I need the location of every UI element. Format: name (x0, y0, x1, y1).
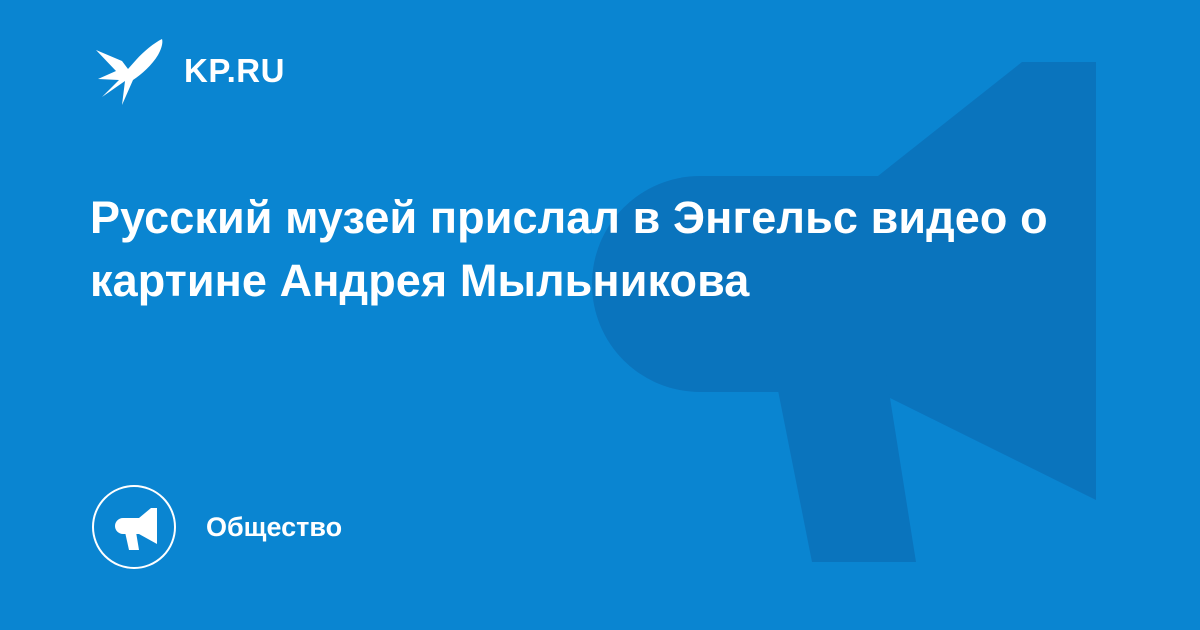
category-icon-circle (92, 485, 176, 569)
article-headline: Русский музей прислал в Энгельс видео о … (90, 186, 1090, 312)
brand-logo[interactable]: KP.RU (92, 32, 285, 108)
category-label: Общество (206, 514, 342, 541)
brand-wordmark: KP.RU (184, 54, 285, 87)
social-share-card: KP.RU Русский музей прислал в Энгельс ви… (0, 0, 1200, 630)
swallow-bird-icon (92, 35, 166, 105)
category-badge[interactable]: Общество (92, 485, 342, 569)
megaphone-icon (111, 506, 159, 552)
